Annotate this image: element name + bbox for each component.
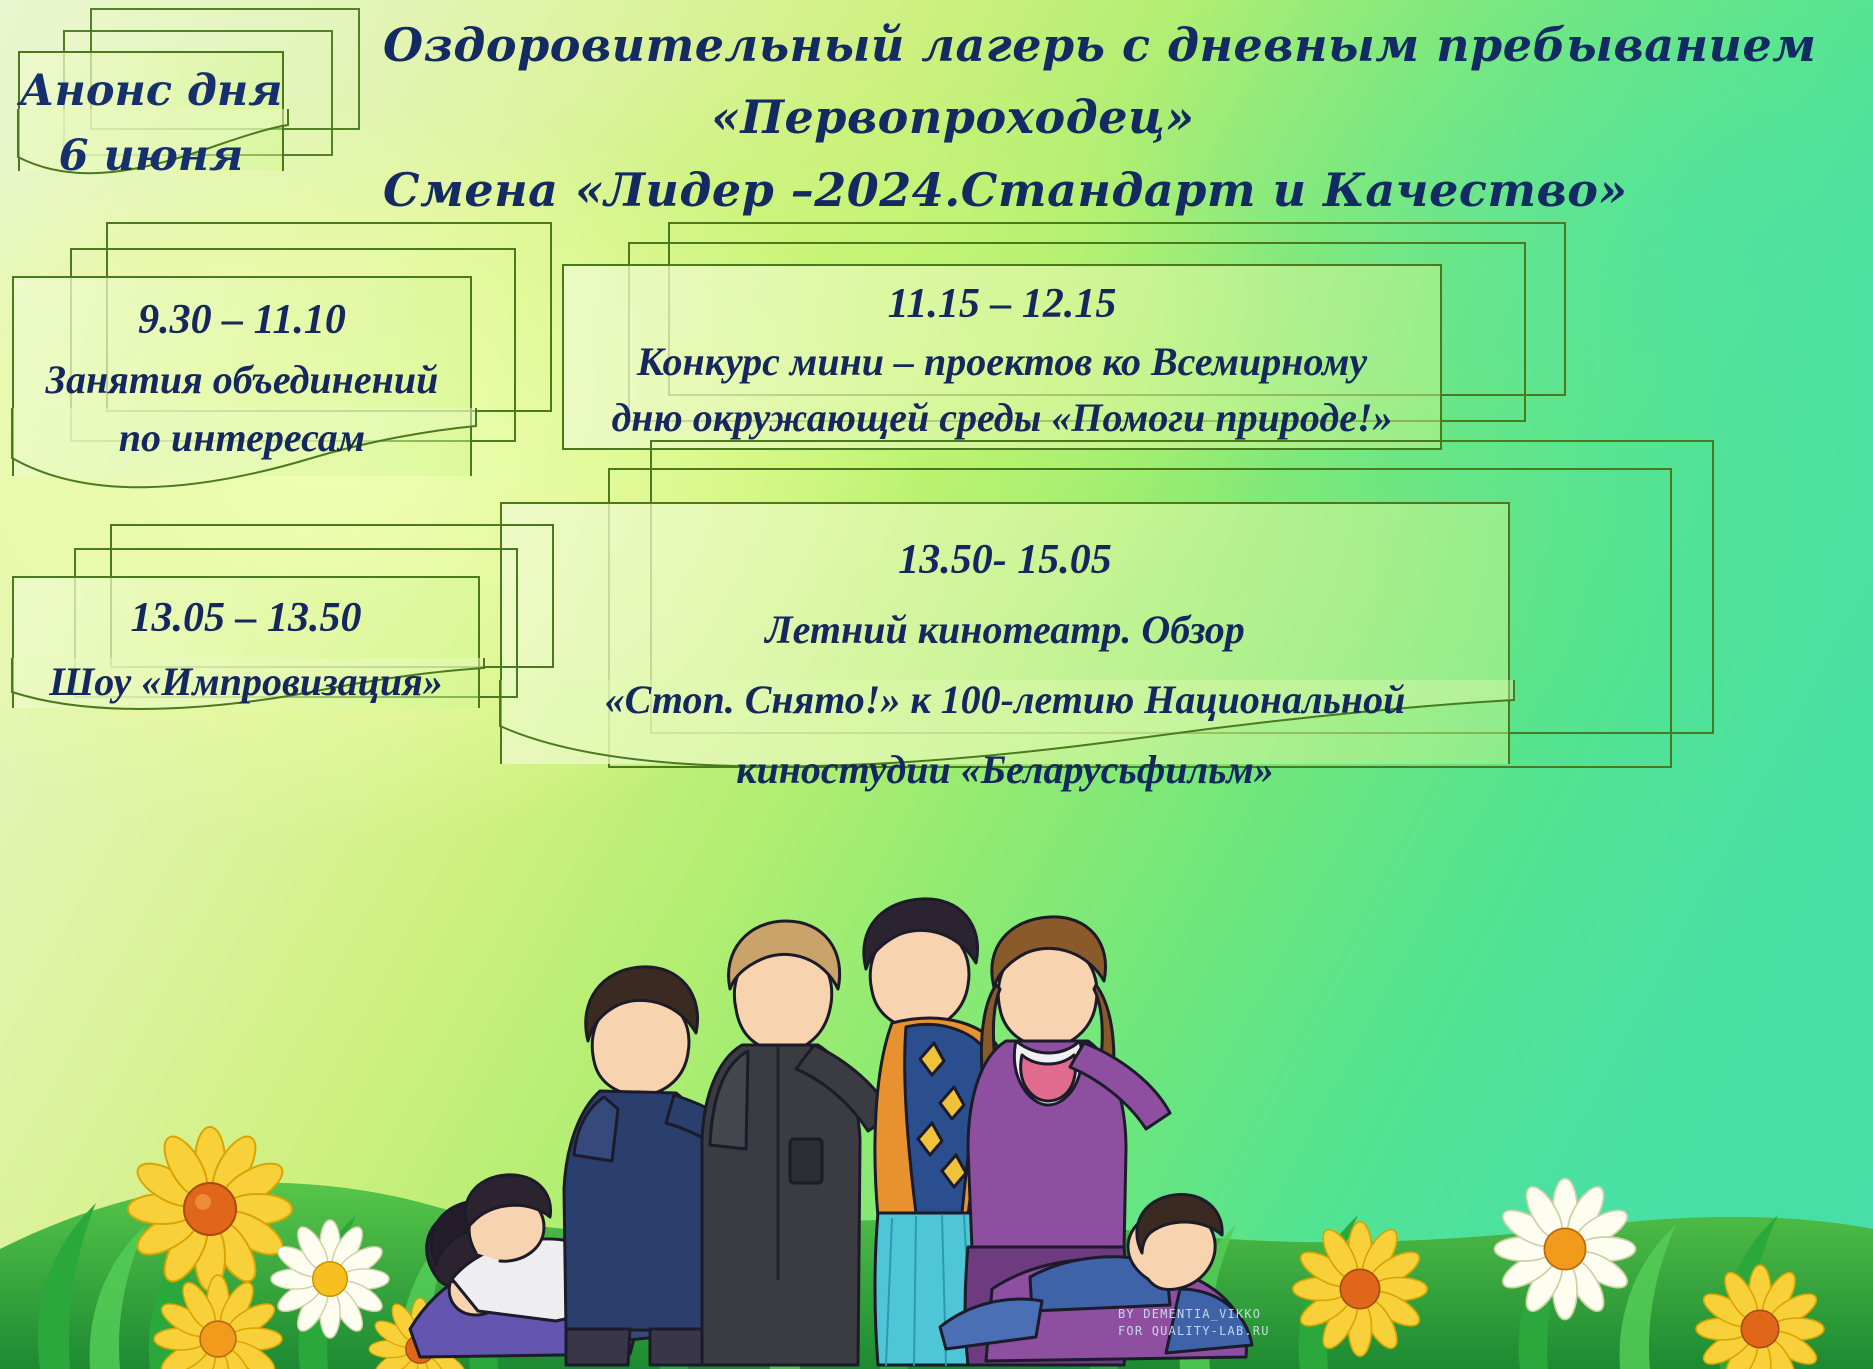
block4-time: 13.50- 15.05 bbox=[500, 536, 1510, 584]
block1-time: 9.30 – 11.10 bbox=[12, 296, 472, 344]
teenagers-group-illustration bbox=[380, 809, 1260, 1369]
block-summer-cinema: 13.50- 15.05 Летний кинотеатр. Обзор «Ст… bbox=[500, 440, 1740, 860]
block-morning-clubs: 9.30 – 11.10 Занятия объединений по инте… bbox=[12, 222, 572, 532]
watermark-line-2: FOR QUALITY-LAB.RU bbox=[1118, 1323, 1270, 1340]
watermark-line-1: BY DEMENTIA_VIKKO bbox=[1118, 1306, 1270, 1323]
watermark: BY DEMENTIA_VIKKO FOR QUALITY-LAB.RU bbox=[1118, 1306, 1270, 1340]
block1-line-2: по интересам bbox=[12, 414, 472, 461]
block4-line-2: «Стоп. Снято!» к 100-летию Национальной bbox=[500, 676, 1510, 723]
block4-line-3: киностудии «Беларусьфильм» bbox=[500, 746, 1510, 793]
poster-canvas: Анонс дня 6 июня Оздоровительный лагерь … bbox=[0, 0, 1873, 1369]
poster-title-line-1: Оздоровительный лагерь с дневным пребыва… bbox=[383, 18, 1523, 72]
block3-line-1: Шоу «Импровизация» bbox=[12, 658, 480, 705]
poster-title-line-3: Смена «Лидер –2024.Стандарт и Качество» bbox=[383, 163, 1523, 217]
block1-line-1: Занятия объединений bbox=[12, 356, 472, 403]
announce-card-stack: Анонс дня 6 июня bbox=[18, 8, 368, 208]
announce-title-line1: Анонс дня bbox=[18, 66, 284, 116]
block2-line-1: Конкурс мини – проектов ко Всемирному bbox=[562, 338, 1442, 385]
block4-line-1: Летний кинотеатр. Обзор bbox=[500, 606, 1510, 653]
block2-line-2: дню окружающей среды «Помоги природе!» bbox=[562, 394, 1442, 441]
block2-time: 11.15 – 12.15 bbox=[562, 280, 1442, 328]
block3-time: 13.05 – 13.50 bbox=[12, 594, 480, 642]
poster-title-line-2: «Первопроходец» bbox=[383, 90, 1523, 144]
person-black-jacket bbox=[702, 921, 892, 1365]
block-improv-show: 13.05 – 13.50 Шоу «Импровизация» bbox=[12, 524, 572, 774]
announce-title-line2: 6 июня bbox=[18, 131, 284, 181]
